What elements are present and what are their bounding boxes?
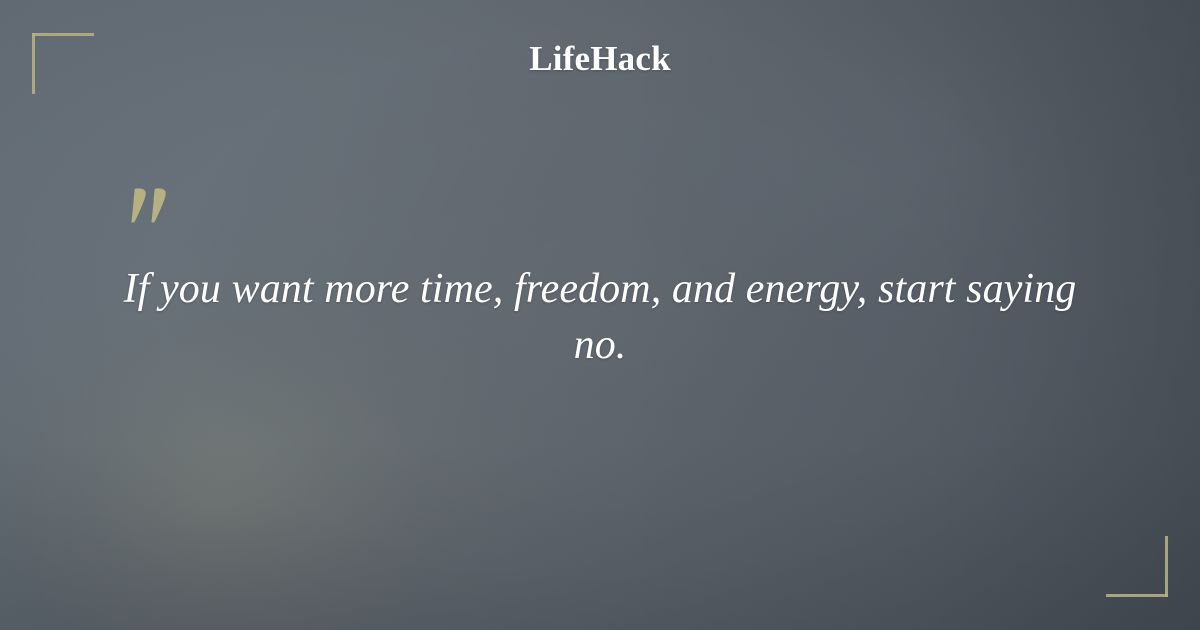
corner-bracket-top-left-horizontal-rule (32, 33, 94, 36)
lifehack-logo: LifeHack (529, 40, 671, 79)
quote-body: If you want more time, freedom, and ener… (110, 262, 1090, 374)
quotation-mark-icon (126, 186, 196, 246)
quote-text: If you want more time, freedom, and ener… (110, 262, 1090, 374)
brand-header: LifeHack (0, 40, 1200, 79)
corner-bracket-bottom-right-vertical-rule (1165, 536, 1168, 597)
quote-card: LifeHack If you want more time, freedom,… (0, 0, 1200, 630)
corner-bracket-bottom-right-horizontal-rule (1106, 594, 1168, 597)
corner-bracket-bottom-right-icon (1106, 536, 1168, 597)
